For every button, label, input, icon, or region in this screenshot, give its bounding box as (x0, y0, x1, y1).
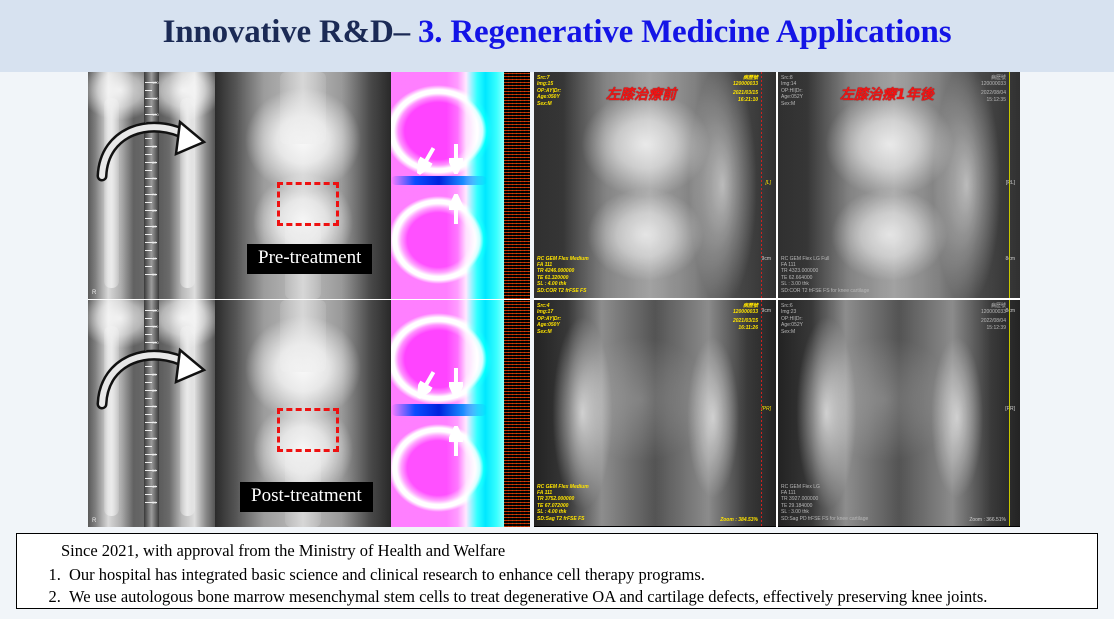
dicom-patient-id-tr: 病歷號 120000033 (981, 75, 1006, 88)
mri-zoom-br: Zoom : 366.51% (969, 517, 1006, 523)
title-primary: Innovative R&D– (163, 14, 410, 50)
notes-list: Our hospital has integrated basic scienc… (27, 564, 1087, 608)
dicom-time-tr: 15:12:35 (987, 97, 1006, 103)
mri-label-after: 左膝治療1年後 (840, 84, 934, 104)
cartilage-arrow-pre-2 (449, 144, 463, 174)
list-item: Our hospital has integrated basic scienc… (65, 564, 1087, 586)
dicom-sequence-br: RC GEM Flex LG FA 111 TR 3927.000000 TE … (781, 484, 868, 522)
dicom-header-tl: Src:7 Img:15 OP:AY|Dr: Age:050Y Sex:M (537, 75, 561, 107)
mri-comparison-figure: Src:7 Img:15 OP:AY|Dr: Age:050Y Sex:M 病歷… (534, 72, 1020, 527)
title-secondary: 3. Regenerative Medicine Applications (418, 14, 951, 50)
dicom-sequence-bl: RC GEM Flex Medium FA 111 TR 3752.000000… (537, 484, 589, 522)
roi-box-pre (277, 182, 339, 226)
dicom-time-bl: 16:11:26 (738, 325, 758, 331)
dicom-date-tl: 2021/03/15 (733, 90, 758, 96)
colormap-noise-edge-post (504, 300, 530, 527)
mri-scale-tr: 8cm (1006, 256, 1015, 262)
mri-side-marker-tr: [RL] (1006, 180, 1015, 186)
cartilage-arrow-post-3 (449, 426, 463, 456)
page-title: Innovative R&D– 3. Regenerative Medicine… (0, 14, 1114, 51)
posttreatment-label: Post-treatment (240, 482, 373, 512)
xray-composite-figure: 120 110 100 90 85 80 75 70 65 60 50 40 3… (88, 72, 530, 527)
roi-box-post (277, 408, 339, 452)
mri-zoom-bl: Zoom : 384.53% (720, 517, 758, 523)
laterality-marker-pre: R (92, 290, 96, 296)
mri-scale-tl: 9cm (762, 256, 771, 262)
pretreatment-label: Pre-treatment (247, 244, 372, 274)
notes-textbox: Since 2021, with approval from the Minis… (16, 533, 1098, 609)
dicom-patient-id-tl: 病歷號 120000033 (733, 75, 758, 88)
dicom-header-tr: Src:8 Img:14 OP:HI|Dr: Age:052Y Sex:M (781, 75, 803, 107)
xray-row-pretreatment: 120 110 100 90 85 80 75 70 65 60 50 40 3… (88, 72, 530, 299)
mri-scale-br: 8cm (1006, 308, 1015, 314)
cartilage-colormap-pre (391, 72, 530, 299)
dicom-header-br: Src:6 Img:23 OP:HI|Dr: Age:052Y Sex:M (781, 303, 803, 335)
zoom-callout-arrow-post (96, 338, 214, 418)
laterality-marker-post: R (92, 518, 96, 524)
colormap-noise-edge-pre (504, 72, 530, 299)
mri-side-marker-tl: [L] (765, 180, 771, 186)
slide-header: Innovative R&D– 3. Regenerative Medicine… (0, 0, 1114, 72)
dicom-sequence-tl: RC GEM Flex Medium FA 111 TR 4246.000000… (537, 256, 589, 294)
dicom-patient-id-bl: 病歷號 120000033 (733, 303, 758, 316)
mri-scale-bl: 9cm (762, 308, 771, 314)
full-leg-radiograph-pre: 120 110 100 90 85 80 75 70 65 60 50 40 3… (88, 72, 215, 299)
cartilage-arrow-post-2 (449, 368, 463, 398)
cartilage-arrow-post-1 (412, 369, 439, 402)
dicom-time-tl: 16:21:10 (738, 97, 758, 103)
mri-quadrant-top-left: Src:7 Img:15 OP:AY|Dr: Age:050Y Sex:M 病歷… (534, 72, 776, 298)
dicom-sequence-tr: RC GEM Flex LG Full FA 111 TR 4323.00000… (781, 256, 869, 294)
notes-lead: Since 2021, with approval from the Minis… (61, 541, 1087, 561)
mri-quadrant-top-right: Src:8 Img:14 OP:HI|Dr: Age:052Y Sex:M 病歷… (778, 72, 1020, 298)
cartilage-colormap-post (391, 300, 530, 527)
dicom-date-tr: 2022/08/04 (981, 90, 1006, 96)
list-item: We use autologous bone marrow mesenchyma… (65, 586, 1087, 608)
dicom-header-bl: Src:4 Img:17 OP:AY|Dr: Age:050Y Sex:M (537, 303, 561, 335)
dicom-time-br: 15:12:39 (987, 325, 1006, 331)
cartilage-arrow-pre-3 (449, 194, 463, 224)
cartilage-arrow-pre-1 (412, 145, 439, 178)
xray-row-posttreatment: 120 110 100 90 85 80 75 70 65 60 50 40 3… (88, 300, 530, 527)
mri-side-marker-br: [PR] (1005, 406, 1015, 412)
dicom-date-bl: 2021/03/15 (733, 318, 758, 324)
zoom-callout-arrow-pre (96, 110, 214, 190)
mri-label-before: 左膝治療前 (606, 84, 676, 104)
mri-quadrant-bottom-right: Src:6 Img:23 OP:HI|Dr: Age:052Y Sex:M 病歷… (778, 300, 1020, 526)
mri-side-marker-bl: [PR] (761, 406, 771, 412)
mri-horizontal-divider (534, 298, 1020, 300)
dicom-patient-id-br: 病歷號 120000033 (981, 303, 1006, 316)
full-leg-radiograph-post: 120 110 100 90 85 80 75 70 65 60 50 40 3… (88, 300, 215, 527)
mri-quadrant-bottom-left: Src:4 Img:17 OP:AY|Dr: Age:050Y Sex:M 病歷… (534, 300, 776, 526)
dicom-date-br: 2022/08/04 (981, 318, 1006, 324)
